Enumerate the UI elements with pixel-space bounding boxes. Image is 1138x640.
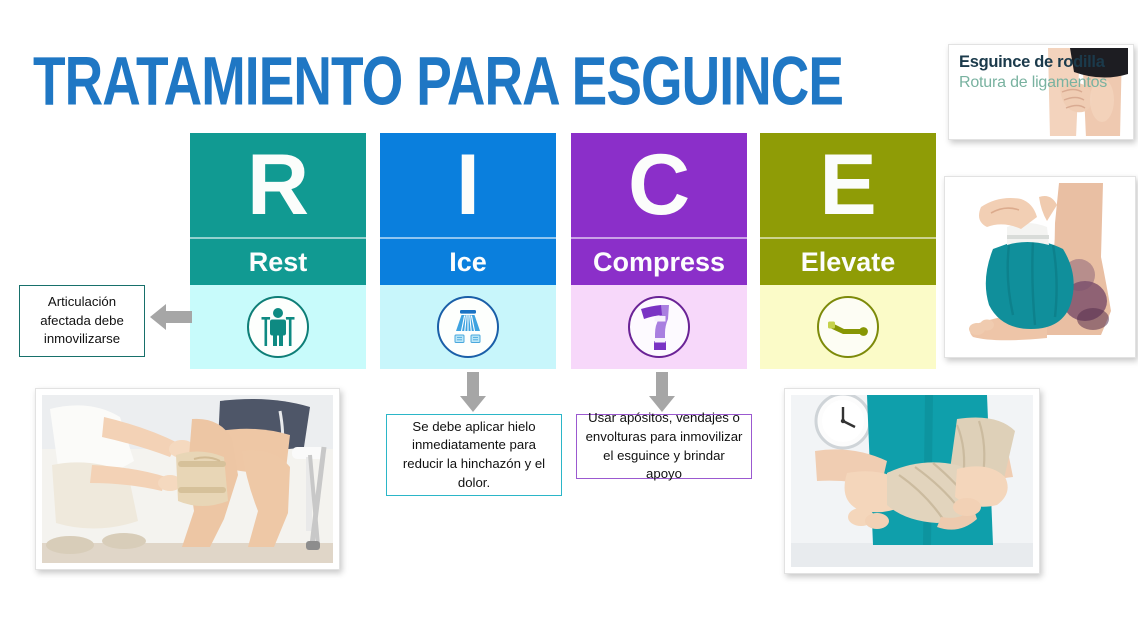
arrow-down-icon [456, 372, 490, 412]
rice-letter-rest: R [190, 133, 366, 237]
banner-caption: Esguince de rodilla Rotura de ligamentos [959, 53, 1107, 92]
photo-knee-sprain-banner: Esguince de rodilla Rotura de ligamentos [948, 44, 1134, 140]
elevated-leg-icon [817, 296, 879, 358]
photo-ice-ankle [944, 176, 1136, 358]
arrow-down-icon [645, 372, 679, 412]
rice-letter-compress: C [571, 133, 747, 237]
page-title: TRATAMIENTO PARA ESGUINCE [33, 42, 843, 121]
photo-ice-ankle-image [951, 183, 1129, 351]
rice-letter-ice: I [380, 133, 556, 237]
rice-icon-pane-elevate [760, 285, 936, 369]
rice-columns: R Rest I [190, 133, 938, 369]
rice-column-ice[interactable]: I Ice [380, 133, 556, 369]
callout-compress: Usar apósitos, vendajes o envolturas par… [576, 414, 752, 479]
photo-ankle-wrap-image [791, 395, 1033, 567]
arrow-left-icon [150, 300, 192, 334]
photo-knee-brace-image [42, 395, 333, 563]
rice-icon-pane-ice [380, 285, 556, 369]
callout-rest: Articulación afectada debe inmovilizarse [19, 285, 145, 357]
rice-column-rest[interactable]: R Rest [190, 133, 366, 369]
rice-column-compress[interactable]: C Compress [571, 133, 747, 369]
rice-column-elevate[interactable]: E Elevate [760, 133, 936, 369]
banner-heading: Esguince de rodilla [959, 53, 1107, 71]
person-with-crutches-icon [247, 296, 309, 358]
rice-letter-elevate: E [760, 133, 936, 237]
callout-ice: Se debe aplicar hielo inmediatamente par… [386, 414, 562, 496]
rice-word-rest: Rest [190, 237, 366, 285]
bandaged-knee-icon [628, 296, 690, 358]
photo-knee-brace [35, 388, 340, 570]
rice-word-ice: Ice [380, 237, 556, 285]
rice-icon-pane-compress [571, 285, 747, 369]
rice-word-elevate: Elevate [760, 237, 936, 285]
ice-machine-icon [437, 296, 499, 358]
rice-icon-pane-rest [190, 285, 366, 369]
banner-subheading: Rotura de ligamentos [959, 74, 1107, 92]
rice-word-compress: Compress [571, 237, 747, 285]
photo-ankle-wrap [784, 388, 1040, 574]
slide-canvas: TRATAMIENTO PARA ESGUINCE R Rest [0, 0, 1138, 640]
